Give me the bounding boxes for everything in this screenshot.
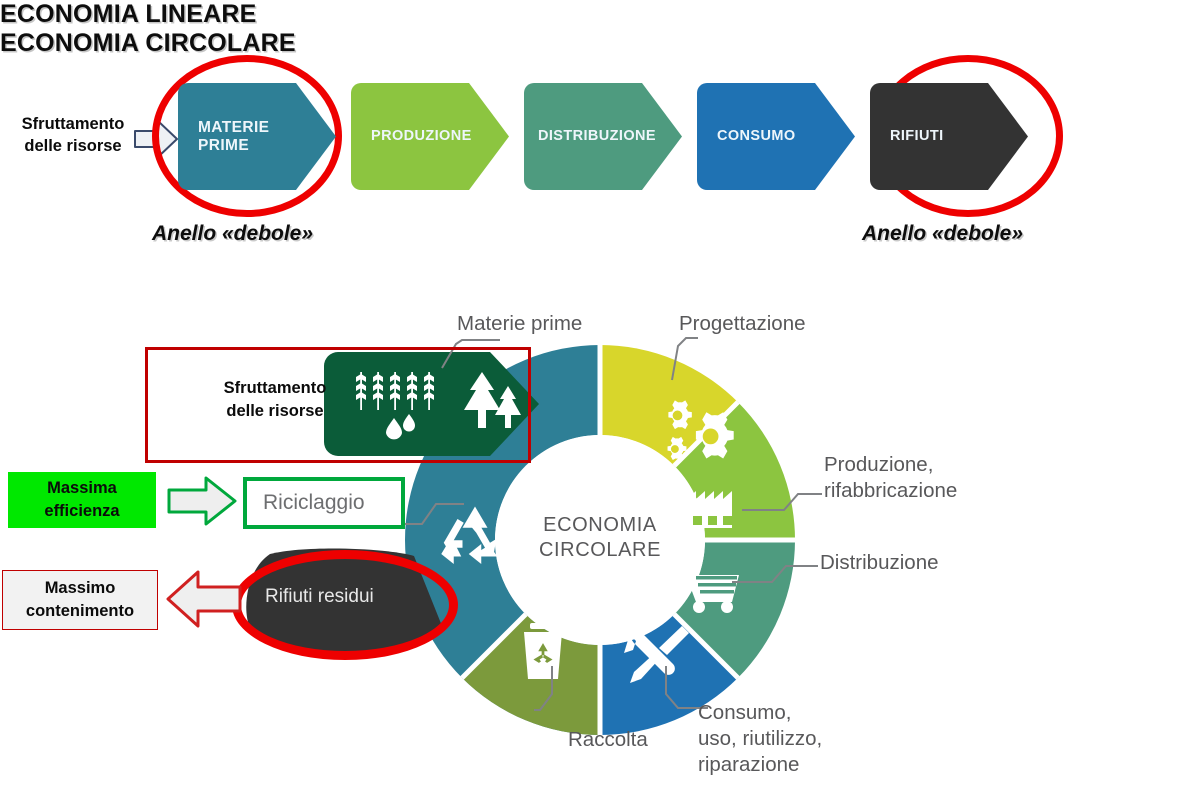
linear-input-label-line1: Sfruttamento	[22, 115, 125, 133]
linear-stage-rifiuti: RIFIUTI	[870, 83, 1028, 190]
slide-canvas: ECONOMIA LINEARE Sfruttamento delle riso…	[0, 0, 1189, 804]
weak-link-label-right: Anello «debole»	[862, 222, 1023, 246]
produzione-leader-line	[740, 480, 824, 520]
wheel-label-raccolta: Raccolta	[568, 727, 648, 753]
wheel-label-consumo: Consumo, uso, riutilizzo, riparazione	[698, 700, 822, 779]
riciclaggio-box[interactable]: Riciclaggio	[243, 477, 405, 529]
massima-efficienza-arrow-icon	[166, 475, 238, 527]
distribuzione-leader-line	[730, 548, 820, 588]
raccolta-leader-line	[532, 664, 582, 724]
wheel-center-line1: ECONOMIA	[543, 514, 657, 536]
massima-efficienza-box: Massima efficienza	[8, 472, 156, 528]
wheel-label-materie-prime: Materie prime	[457, 311, 582, 337]
linear-economy-title: ECONOMIA LINEARE	[0, 0, 1189, 29]
sfruttamento-annotation-label: Sfruttamento delle risorse	[160, 377, 390, 423]
linear-stage-distribuzione: DISTRIBUZIONE	[524, 83, 682, 190]
circular-economy-title: ECONOMIA CIRCOLARE	[0, 29, 1189, 58]
linear-stage-label: RIFIUTI	[890, 128, 944, 145]
linear-stage-label: CONSUMO	[717, 128, 796, 145]
linear-input-label: Sfruttamento delle risorse	[8, 113, 138, 158]
linear-stage-materie-prime: MATERIE PRIME	[178, 83, 336, 190]
weak-link-label-left: Anello «debole»	[152, 222, 313, 246]
linear-stage-consumo: CONSUMO	[697, 83, 855, 190]
wheel-label-produzione: Produzione, rifabbricazione	[824, 452, 957, 504]
massimo-contenimento-box: Massimo contenimento	[2, 570, 158, 630]
wheel-center-line2: CIRCOLARE	[539, 539, 661, 561]
residual-waste-highlight	[232, 550, 458, 660]
linear-input-label-line2: delle risorse	[24, 137, 121, 155]
linear-stage-label: MATERIE PRIME	[198, 119, 269, 155]
wheel-center-label: ECONOMIA CIRCOLARE	[500, 513, 700, 563]
riciclaggio-box-label: Riciclaggio	[263, 491, 365, 515]
massimo-contenimento-arrow-icon	[165, 568, 243, 630]
wheel-label-progettazione: Progettazione	[679, 311, 806, 337]
linear-stage-produzione: PRODUZIONE	[351, 83, 509, 190]
linear-stage-label: PRODUZIONE	[371, 128, 472, 145]
linear-stage-label: DISTRIBUZIONE	[538, 128, 656, 145]
wheel-label-distribuzione: Distribuzione	[820, 550, 939, 576]
